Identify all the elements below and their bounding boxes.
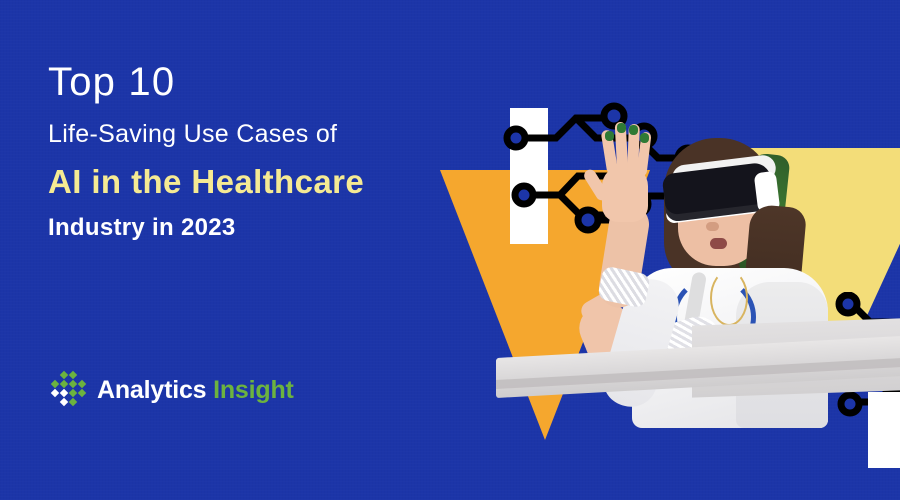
headline-line-2: Life-Saving Use Cases of	[48, 122, 468, 147]
mouth	[710, 238, 727, 249]
fingernail-1	[605, 131, 614, 141]
logo-wordmark: Analytics Insight	[97, 376, 294, 405]
nose	[706, 222, 719, 231]
analytics-insight-logo-icon	[50, 372, 84, 408]
logo-word-insight: Insight	[213, 376, 294, 404]
headline-line-4: Industry in 2023	[48, 216, 468, 240]
headline-block: Top 10 Life-Saving Use Cases of AI in th…	[48, 62, 468, 240]
headline-line-1: Top 10	[48, 62, 468, 102]
logo-word-analytics: Analytics	[97, 376, 206, 404]
article-banner-image: Top 10 Life-Saving Use Cases of AI in th…	[0, 0, 900, 500]
fingernail-3	[629, 125, 638, 135]
fingernail-4	[640, 133, 649, 143]
fingernail-2	[617, 123, 626, 133]
headline-line-3-highlight: AI in the Healthcare	[48, 165, 468, 198]
necklace	[710, 270, 748, 326]
analytics-insight-logo[interactable]: Analytics Insight	[50, 372, 294, 408]
white-block-bottom-right	[868, 392, 900, 468]
